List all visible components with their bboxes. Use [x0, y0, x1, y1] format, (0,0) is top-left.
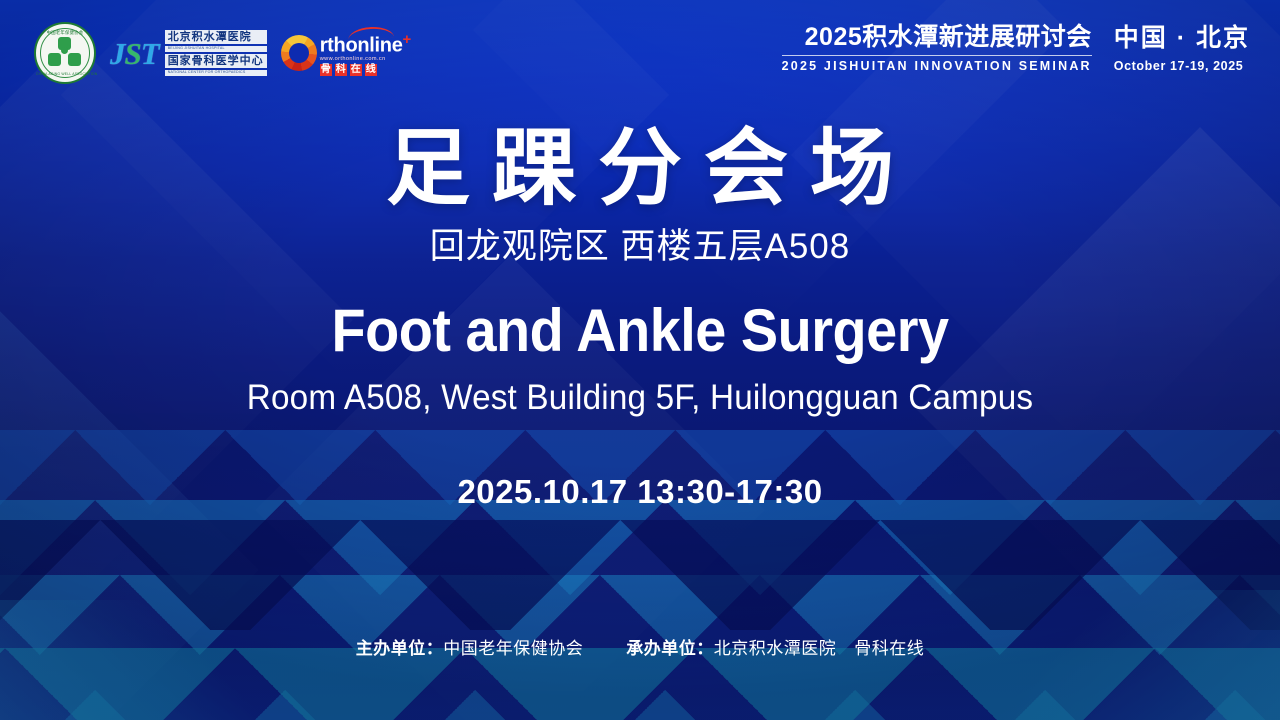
conference-branding: 2025积水潭新进展研讨会 2025 JISHUITAN INNOVATION …	[782, 22, 1250, 74]
conference-city: 中国 · 北京	[1114, 23, 1250, 53]
conference-location-block: 中国 · 北京 October 17-19, 2025	[1114, 22, 1250, 74]
bg-lattice-row-2	[0, 500, 1280, 720]
orthonline-cn-char-3: 在	[350, 64, 362, 76]
host-value-1: 北京积水潭医院	[714, 639, 837, 658]
orthonline-plus-icon: +	[403, 31, 411, 48]
orthonline-cn-char-2: 科	[335, 64, 347, 76]
organizer-group: 主办单位：中国老年保健协会	[356, 634, 584, 659]
conference-name-block: 2025积水潭新进展研讨会 2025 JISHUITAN INNOVATION …	[782, 22, 1092, 74]
organizer-value: 中国老年保健协会	[443, 639, 583, 658]
session-title-cn: 足踝分会场	[0, 118, 1280, 218]
conference-divider	[782, 55, 1092, 56]
jst-line-1: 北京积水潭医院	[165, 30, 267, 44]
session-datetime: 2025.10.17 13:30-17:30	[0, 470, 1280, 514]
jst-line-1-sub: BEIJING JISHUITAN HOSPITAL	[165, 46, 267, 52]
sponsor-logo-group: 中国老年保健协会 CHINA AGING WELL ASSOCIATION JS…	[34, 22, 411, 84]
session-content: 足踝分会场 回龙观院区 西楼五层A508 Foot and Ankle Surg…	[0, 118, 1280, 514]
banner-footer: 主办单位：中国老年保健协会 承办单位：北京积水潭医院骨科在线	[0, 634, 1280, 659]
orthonline-cn-char-4: 线	[365, 64, 377, 76]
jst-monogram-icon: JST	[110, 38, 159, 69]
orthonline-logo: rthonline+ www.orthonline.com.cn 骨 科 在 线	[281, 30, 411, 77]
china-geriatric-health-association-seal-icon: 中国老年保健协会 CHINA AGING WELL ASSOCIATION	[34, 22, 96, 84]
banner-header: 中国老年保健协会 CHINA AGING WELL ASSOCIATION JS…	[0, 0, 1280, 108]
host-group: 承办单位：北京积水潭医院骨科在线	[626, 634, 924, 659]
host-label: 承办单位：	[626, 639, 714, 658]
orthonline-word: rthonline+	[320, 30, 411, 56]
organizer-label: 主办单位：	[356, 639, 444, 658]
session-venue-cn: 回龙观院区 西楼五层A508	[0, 222, 1280, 272]
conference-banner: 中国老年保健协会 CHINA AGING WELL ASSOCIATION JS…	[0, 0, 1280, 720]
orthonline-url: www.orthonline.com.cn	[320, 55, 411, 63]
jst-line-2-sub: NATIONAL CENTER FOR ORTHOPAEDICS	[165, 70, 267, 76]
jst-line-2: 国家骨科医学中心	[165, 54, 267, 68]
orthonline-wordmark: rthonline+ www.orthonline.com.cn 骨 科 在 线	[320, 30, 411, 77]
session-venue-en: Room A508, West Building 5F, Huilongguan…	[32, 374, 1248, 422]
seal-top-text: 中国老年保健协会	[36, 31, 94, 35]
recycle-trefoil-icon	[48, 38, 82, 68]
orthonline-swoosh-icon	[347, 25, 394, 39]
orthonline-cn-char-1: 骨	[320, 64, 332, 76]
seal-bottom-text: CHINA AGING WELL ASSOCIATION	[36, 73, 94, 76]
conference-title-cn: 2025积水潭新进展研讨会	[782, 22, 1092, 52]
session-title-en: Foot and Ankle Surgery	[45, 294, 1235, 368]
host-value-2: 骨科在线	[854, 639, 924, 658]
conference-title-en: 2025 JISHUITAN INNOVATION SEMINAR	[782, 59, 1092, 74]
conference-dates: October 17-19, 2025	[1114, 58, 1250, 74]
orthonline-sunburst-icon	[281, 35, 317, 71]
bg-wedge-bottom-left	[0, 600, 280, 720]
jishuitan-hospital-logo: JST 北京积水潭医院 BEIJING JISHUITAN HOSPITAL 国…	[110, 30, 267, 76]
bg-lattice-dark-peaks	[0, 520, 1280, 630]
orthonline-cn-name: 骨 科 在 线	[320, 64, 411, 76]
jst-hospital-name: 北京积水潭医院 BEIJING JISHUITAN HOSPITAL 国家骨科医…	[165, 30, 267, 76]
